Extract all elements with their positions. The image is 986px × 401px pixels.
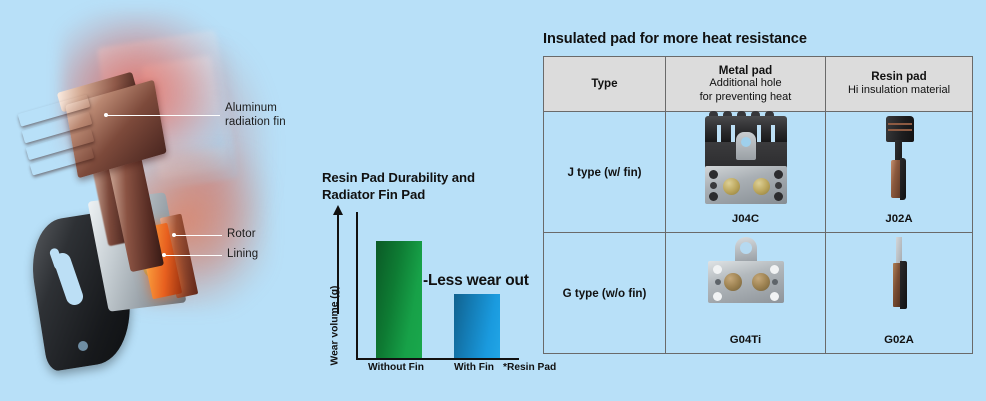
pad-corner-hole: [713, 292, 722, 301]
product-code: J04C: [666, 213, 825, 225]
pad-backing: [900, 158, 906, 200]
pad-corner-hole: [770, 265, 779, 274]
column-header-subtitle-2: for preventing heat: [666, 91, 825, 105]
product-code: J02A: [826, 213, 972, 225]
callout-rotor: Rotor: [227, 228, 256, 242]
cell-type-j: J type (w/ fin): [544, 112, 666, 233]
callout-line-1: Aluminum: [225, 102, 286, 116]
table-row: J type (w/ fin): [544, 112, 973, 233]
pad-slot: [715, 279, 721, 285]
metal-pad-finless-image: [666, 237, 825, 329]
pad-stud: [774, 170, 783, 179]
callout-label: Lining: [227, 248, 258, 260]
pad-stud-small: [775, 182, 782, 189]
x-tick-label-without-fin: Without Fin: [354, 362, 438, 373]
column-header-subtitle-1: Hi insulation material: [826, 84, 972, 98]
pad-piston: [724, 273, 742, 291]
callout-label: Rotor: [227, 228, 256, 240]
table-header-row: Type Metal pad Additional hole for preve…: [544, 57, 973, 112]
table-header: Type Metal pad Additional hole for preve…: [544, 57, 973, 112]
pad-piston: [752, 273, 770, 291]
fin-gap-line: [888, 123, 912, 125]
metal-pad-drawing: [703, 116, 789, 204]
leader-line-aluminum-fin: [106, 115, 220, 116]
resin-pad-finned-image: [826, 116, 972, 208]
page-root: Aluminum radiation fin Rotor Lining Resi…: [0, 0, 986, 401]
pad-corner-hole: [770, 292, 779, 301]
pad-stud: [774, 192, 783, 201]
chart-annotation: -Less wear out: [423, 272, 529, 290]
pad-corner-hole: [713, 265, 722, 274]
product-code: G02A: [826, 334, 972, 346]
callout-line-2: radiation fin: [225, 116, 286, 130]
column-header-metal-pad: Metal pad Additional hole for preventing…: [666, 57, 826, 112]
column-header-subtitle-1: Additional hole: [666, 77, 825, 91]
pad-piston: [723, 178, 740, 195]
pad-stud: [709, 170, 718, 179]
pad-slot: [772, 279, 778, 285]
x-axis-line: [356, 358, 519, 360]
callout-aluminum-radiation-fin: Aluminum radiation fin: [225, 102, 286, 129]
leader-line-lining: [164, 255, 222, 256]
pad-piston: [753, 178, 770, 195]
column-header-title: Type: [544, 77, 665, 91]
chart-title-line-1: Resin Pad Durability and: [322, 170, 532, 187]
mounting-hole: [740, 242, 752, 254]
chart-title: Resin Pad Durability and Radiator Fin Pa…: [322, 170, 532, 203]
table-row: G type (w/o fin): [544, 233, 973, 354]
fin-gap-line: [888, 129, 912, 131]
bar-with-fin: [454, 294, 500, 358]
mounting-hole: [741, 137, 751, 147]
brake-caliper-thermal-illustration: [0, 0, 300, 401]
resin-pad-drawing: [882, 237, 916, 313]
metal-pad-finned-image: [666, 116, 825, 208]
table-body: J type (w/ fin): [544, 112, 973, 354]
pad-backing: [900, 261, 907, 309]
table-title: Insulated pad for more heat resistance: [543, 31, 807, 47]
insulated-pad-table: Type Metal pad Additional hole for preve…: [543, 56, 973, 354]
column-header-type: Type: [544, 57, 666, 112]
wear-volume-bar-chart: Resin Pad Durability and Radiator Fin Pa…: [318, 170, 533, 385]
chart-title-line-2: Radiator Fin Pad: [322, 187, 532, 204]
y-axis-label: Wear volume (g): [330, 283, 341, 369]
cell-metal-pad-g04ti: G04Ti: [666, 233, 826, 354]
resin-pad-finless-image: [826, 237, 972, 329]
pad-stud: [709, 192, 718, 201]
product-code: G04Ti: [666, 334, 825, 346]
cell-resin-pad-g02a: G02A: [826, 233, 973, 354]
resin-pad-drawing: [876, 116, 922, 204]
cell-type-g: G type (w/o fin): [544, 233, 666, 354]
cell-metal-pad-j04c: J04C: [666, 112, 826, 233]
column-header-title: Metal pad: [666, 64, 825, 78]
column-header-title: Resin pad: [826, 70, 972, 84]
rotor-bolt-hole: [78, 341, 88, 351]
callout-lining: Lining: [227, 248, 258, 262]
pad-stud-small: [710, 182, 717, 189]
chart-footnote: *Resin Pad: [503, 362, 556, 373]
column-header-resin-pad: Resin pad Hi insulation material: [826, 57, 973, 112]
leader-line-rotor: [174, 235, 222, 236]
cell-resin-pad-j02a: J02A: [826, 112, 973, 233]
bar-without-fin: [376, 241, 422, 358]
metal-pad-drawing: [706, 237, 786, 313]
